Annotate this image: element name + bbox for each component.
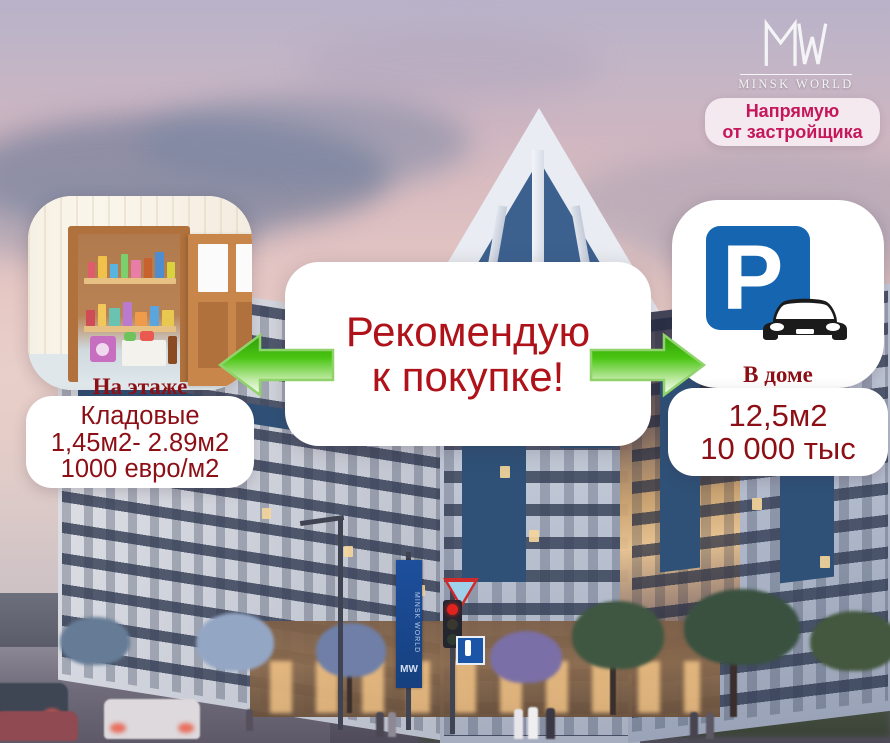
traffic-light-amber (447, 619, 458, 630)
advertisement-banner: MINSK WORLD MW MINSK WORLD Звоните/пишит… (0, 0, 890, 743)
shelf (84, 278, 176, 284)
washing-machine-door (96, 343, 109, 356)
parking-detail-1: 12,5м2 (729, 399, 828, 432)
arrow-left-green-icon (214, 322, 338, 408)
storage-detail-1: Кладовые (80, 403, 199, 430)
storage-item (124, 332, 136, 341)
pedestrian (376, 712, 384, 737)
storage-card-details[interactable]: Кладовые 1,45м2- 2.89м2 1000 евро/м2 (26, 396, 254, 488)
direct-from-developer-badge[interactable]: Напрямую от застройщика (705, 98, 880, 146)
arrow-right-green-icon (586, 322, 710, 408)
pedestrian (528, 707, 538, 739)
shelf-item (109, 308, 120, 326)
direct-line-1: Напрямую (746, 101, 840, 121)
shelf-item (167, 262, 175, 278)
cloud (300, 30, 600, 100)
pedestrian (514, 709, 523, 739)
lit-window (529, 530, 539, 542)
tree (572, 601, 664, 669)
logo-wordmark: MINSK WORLD (738, 77, 853, 92)
bottle (168, 336, 177, 364)
shelf-item (86, 310, 95, 326)
mw-monogram-icon (755, 16, 837, 72)
tree-blossom (490, 631, 562, 683)
shelf-item (98, 304, 106, 326)
lit-window (752, 498, 762, 510)
shelf-item (88, 262, 95, 278)
car-taillight (178, 723, 194, 733)
direct-line-2: от застройщика (722, 122, 862, 142)
car (104, 699, 200, 739)
lamp-post (338, 520, 343, 730)
shelf-item (121, 254, 128, 278)
shelf-item (155, 252, 164, 278)
lit-window (262, 508, 271, 519)
car-taillight (110, 723, 126, 733)
direct-badge-text: Напрямую от застройщика (722, 101, 862, 143)
storage-detail-2: 1,45м2- 2.89м2 (51, 430, 229, 457)
car (0, 711, 78, 741)
pedestrian (388, 712, 396, 737)
tree (316, 623, 386, 677)
minsk-world-logo: MINSK WORLD (736, 16, 856, 92)
pedestrian (690, 712, 698, 739)
tree (684, 589, 800, 665)
logo-rule (740, 74, 852, 75)
lit-window (820, 556, 830, 568)
shelf-item (110, 264, 118, 278)
banner-text: MINSK WORLD (398, 578, 420, 668)
pedestrian (246, 709, 253, 731)
pedestrian-figure-icon (465, 640, 471, 656)
recommendation-line-2: к покупке! (372, 354, 565, 399)
shelf-item (150, 306, 159, 326)
storage-box (122, 340, 166, 366)
tree (60, 617, 130, 665)
banner-logo-icon: MW (400, 664, 418, 680)
shelf-item (131, 260, 141, 278)
car-silhouette-icon (760, 292, 850, 344)
tree-blossom (196, 613, 274, 671)
door-glass-pane (236, 244, 252, 292)
lit-window (344, 546, 353, 557)
traffic-light-red (447, 604, 458, 615)
recommendation-line-1: Рекомендую (346, 309, 590, 354)
parking-detail-2: 10 000 тыс (700, 432, 855, 465)
shelf-item (135, 312, 147, 326)
lit-window (500, 466, 510, 478)
shelf-item (144, 258, 152, 278)
shelf-item (123, 302, 132, 326)
door-glass-pane (198, 244, 228, 292)
pedestrian (706, 713, 714, 739)
storage-detail-3: 1000 евро/м2 (61, 456, 220, 483)
storage-item (140, 331, 154, 341)
shelf-item (98, 256, 107, 278)
tree (810, 611, 890, 671)
shelf-item (162, 310, 174, 326)
pedestrian (546, 708, 555, 739)
